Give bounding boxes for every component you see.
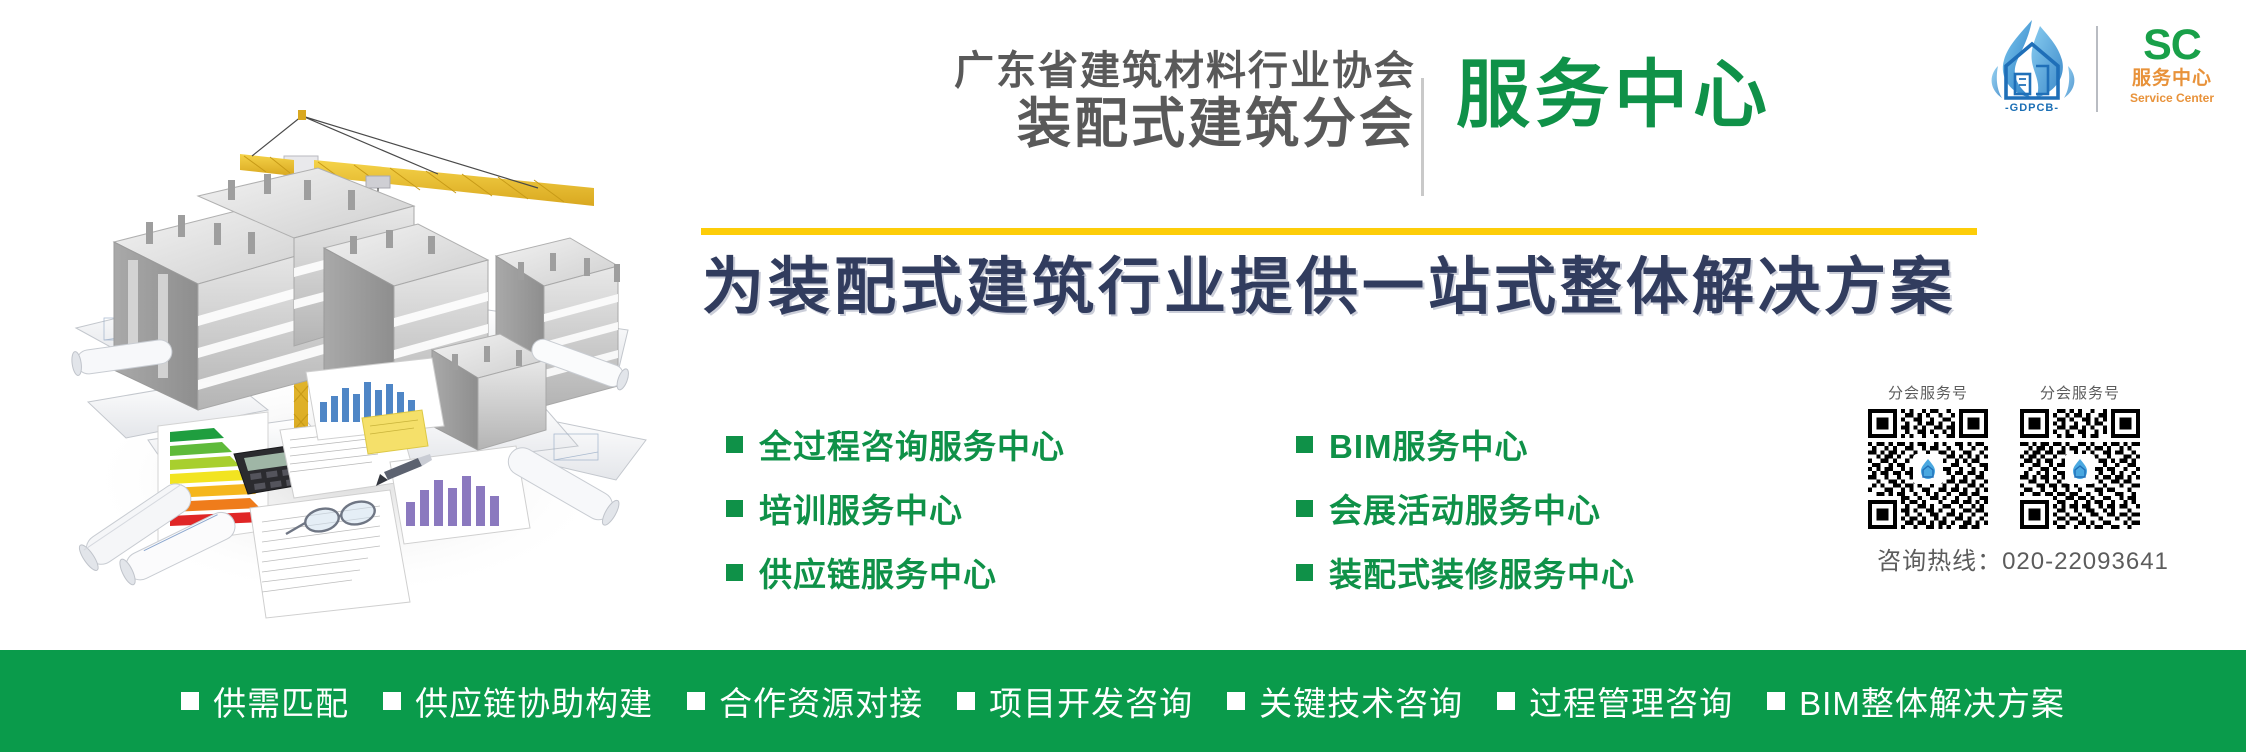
hotline-text: 咨询热线：020-22093641 (1868, 541, 2178, 576)
bottom-item-label: 供应链协助构建 (415, 677, 653, 725)
square-bullet-icon (1227, 692, 1245, 710)
square-bullet-icon (957, 692, 975, 710)
association-name-line1: 广东省建筑材料行业协会 (836, 48, 1416, 95)
list-item: 会展活动服务中心 (1296, 476, 1635, 540)
gold-divider-rule (701, 228, 1977, 235)
logo-vertical-divider (2096, 26, 2098, 112)
service-label: 会展活动服务中心 (1329, 484, 1601, 532)
logo-sc-english: Service Center (2118, 91, 2226, 105)
list-item: 全过程咨询服务中心 (726, 412, 1065, 476)
header-vertical-divider (1421, 78, 1424, 196)
bottom-item-label: 关键技术咨询 (1259, 677, 1463, 725)
service-list-right: BIM服务中心 会展活动服务中心 装配式装修服务中心 (1296, 412, 1635, 604)
list-item: BIM服务中心 (1296, 412, 1635, 476)
service-label: 培训服务中心 (759, 484, 963, 532)
list-item: 供需匹配 (181, 677, 349, 725)
slogan-text: 为装配式建筑行业提供一站式整体解决方案 (702, 254, 1956, 322)
qr-center-house-flame-icon (1913, 454, 1943, 484)
logo-group: -GDPCB- SC 服务中心 Service Center (1978, 14, 2228, 118)
logo-sc-abbrev: SC (2118, 24, 2226, 67)
qr-row: 分会服务号 (1868, 382, 2178, 529)
qr-area: 分会服务号 (1868, 382, 2178, 576)
bottom-services-bar: 供需匹配 供应链协助构建 合作资源对接 项目开发咨询 关键技术咨询 过程管理咨询 (0, 650, 2246, 752)
list-item: 项目开发咨询 (957, 677, 1193, 725)
hero-construction-image (18, 10, 658, 650)
qr-caption: 分会服务号 (1868, 382, 1988, 403)
qr-code-image[interactable] (2020, 409, 2140, 529)
square-bullet-icon (1296, 500, 1313, 517)
list-item: 供应链协助构建 (383, 677, 653, 725)
qr-code-image[interactable] (1868, 409, 1988, 529)
bottom-item-label: 供需匹配 (213, 677, 349, 725)
qr-center-house-flame-icon (2065, 454, 2095, 484)
logo-sc-chinese: 服务中心 (2118, 67, 2226, 91)
square-bullet-icon (1767, 692, 1785, 710)
logo-sc-block: SC 服务中心 Service Center (2118, 24, 2226, 105)
square-bullet-icon (181, 692, 199, 710)
square-bullet-icon (1296, 564, 1313, 581)
square-bullet-icon (1296, 436, 1313, 453)
service-label: 全过程咨询服务中心 (759, 420, 1065, 468)
list-item: 合作资源对接 (687, 677, 923, 725)
list-item: 关键技术咨询 (1227, 677, 1463, 725)
square-bullet-icon (687, 692, 705, 710)
bottom-item-label: 过程管理咨询 (1529, 677, 1733, 725)
list-item: 过程管理咨询 (1497, 677, 1733, 725)
logo-gdpcb-text: -GDPCB- (1978, 102, 2086, 114)
qr-caption: 分会服务号 (2020, 382, 2140, 403)
association-title-block: 广东省建筑材料行业协会 装配式建筑分会 (836, 48, 1416, 154)
service-list-left: 全过程咨询服务中心 培训服务中心 供应链服务中心 (726, 412, 1065, 604)
bottom-item-label: 合作资源对接 (719, 677, 923, 725)
square-bullet-icon (1497, 692, 1515, 710)
square-bullet-icon (726, 564, 743, 581)
square-bullet-icon (726, 436, 743, 453)
banner-root: 广东省建筑材料行业协会 装配式建筑分会 服务中心 为装配式建筑行业提供一站式整体… (0, 0, 2246, 752)
service-center-title: 服务中心 (1456, 58, 1772, 132)
bottom-items-row: 供需匹配 供应链协助构建 合作资源对接 项目开发咨询 关键技术咨询 过程管理咨询 (181, 677, 2065, 725)
square-bullet-icon (726, 500, 743, 517)
bottom-item-label: BIM整体解决方案 (1799, 677, 2065, 725)
service-label: 供应链服务中心 (759, 548, 997, 596)
bottom-item-label: 项目开发咨询 (989, 677, 1193, 725)
list-item: BIM整体解决方案 (1767, 677, 2065, 725)
list-item: 培训服务中心 (726, 476, 1065, 540)
association-name-line2: 装配式建筑分会 (836, 95, 1416, 153)
square-bullet-icon (383, 692, 401, 710)
qr-block: 分会服务号 (2020, 382, 2140, 529)
qr-block: 分会服务号 (1868, 382, 1988, 529)
list-item: 供应链服务中心 (726, 540, 1065, 604)
service-label: BIM服务中心 (1329, 420, 1529, 468)
list-item: 装配式装修服务中心 (1296, 540, 1635, 604)
service-label: 装配式装修服务中心 (1329, 548, 1635, 596)
